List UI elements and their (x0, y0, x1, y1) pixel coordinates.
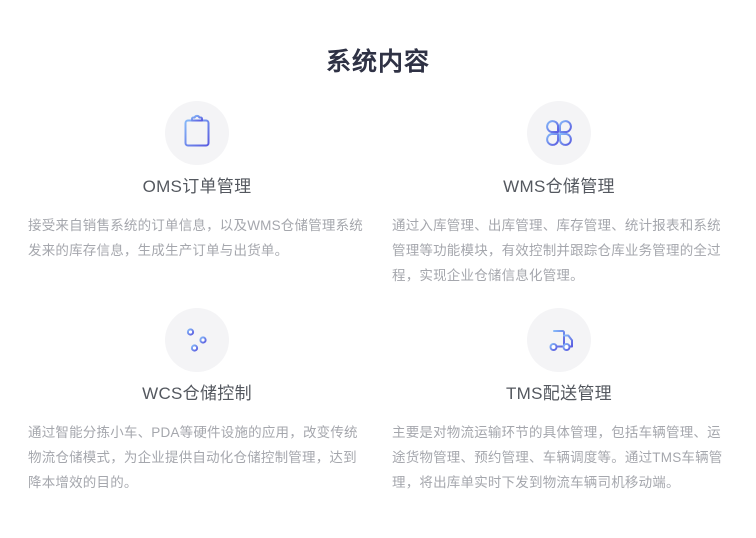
icon-wrap (22, 101, 372, 165)
feature-heading: OMS订单管理 (22, 175, 372, 199)
feature-heading: WMS仓储管理 (384, 175, 734, 199)
icon-circle (527, 308, 591, 372)
feature-body: 通过智能分拣小车、PDA等硬件设施的应用，改变传统物流仓储模式，为企业提供自动化… (22, 420, 372, 495)
feature-grid: OMS订单管理 接受来自销售系统的订单信息，以及WMS仓储管理系统发来的库存信息… (0, 79, 756, 509)
icon-circle (527, 101, 591, 165)
feature-body: 主要是对物流运输环节的具体管理，包括车辆管理、运途货物管理、预约管理、车辆调度等… (384, 420, 734, 495)
icon-wrap (384, 101, 734, 165)
icon-wrap (22, 308, 372, 372)
icon-circle (165, 101, 229, 165)
icon-wrap (384, 308, 734, 372)
feature-card-wms: WMS仓储管理 通过入库管理、出库管理、库存管理、统计报表和系统管理等功能模块，… (384, 101, 734, 302)
four-petal-grid-icon (540, 114, 578, 152)
feature-heading: WCS仓储控制 (22, 382, 372, 406)
feature-body: 接受来自销售系统的订单信息，以及WMS仓储管理系统发来的库存信息，生成生产订单与… (22, 213, 372, 263)
feature-card-wcs: WCS仓储控制 通过智能分拣小车、PDA等硬件设施的应用，改变传统物流仓储模式，… (22, 302, 372, 509)
page-title: 系统内容 (0, 0, 756, 79)
icon-circle (165, 308, 229, 372)
feature-body: 通过入库管理、出库管理、库存管理、统计报表和系统管理等功能模块，有效控制并跟踪仓… (384, 213, 734, 288)
feature-heading: TMS配送管理 (384, 382, 734, 406)
feature-card-oms: OMS订单管理 接受来自销售系统的订单信息，以及WMS仓储管理系统发来的库存信息… (22, 101, 372, 302)
system-content-page: 系统内容 (0, 0, 756, 538)
sliders-icon (178, 321, 216, 359)
delivery-truck-icon (540, 321, 578, 359)
clipboard-icon (178, 114, 216, 152)
feature-card-tms: TMS配送管理 主要是对物流运输环节的具体管理，包括车辆管理、运途货物管理、预约… (384, 302, 734, 509)
